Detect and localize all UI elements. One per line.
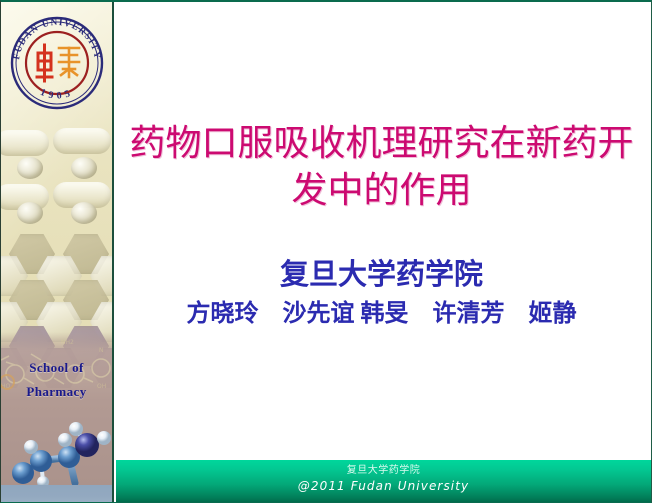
- sidebar-bottom-band: [1, 485, 112, 503]
- sidebar-caption-line2: Pharmacy: [1, 380, 112, 404]
- svg-text:NH2: NH2: [61, 339, 74, 346]
- decor-node: [71, 157, 97, 179]
- footer-organization: 复旦大学药学院: [116, 464, 651, 478]
- slide-title: 药物口服吸收机理研究在新药开 发中的作用: [116, 120, 647, 214]
- molecule-model-icon: [3, 411, 112, 487]
- sidebar-caption-line1: School of: [1, 356, 112, 380]
- decor-cylinder: [53, 128, 111, 154]
- decor-hex-row: [1, 280, 112, 324]
- svg-text:FUDAN UNIVERSITY: FUDAN UNIVERSITY: [11, 17, 103, 60]
- slide-organization: 复旦大学药学院: [116, 257, 647, 293]
- slide-sidebar: HO OH NH2 N School of Pharmacy: [1, 2, 114, 503]
- decor-hex-row: [1, 234, 112, 278]
- decor-node: [17, 202, 43, 224]
- svg-text:1905: 1905: [39, 87, 76, 102]
- decor-cylinder: [1, 130, 49, 156]
- decor-node: [17, 157, 43, 179]
- slide-main-content: 药物口服吸收机理研究在新药开 发中的作用 复旦大学药学院 方晓玲 沙先谊 韩旻 …: [116, 2, 651, 502]
- svg-text:N: N: [99, 347, 104, 354]
- presentation-slide: HO OH NH2 N School of Pharmacy: [0, 0, 652, 503]
- sidebar-caption: School of Pharmacy: [1, 356, 112, 404]
- fudan-university-seal-logo: FUDAN UNIVERSITY 1905: [9, 15, 105, 111]
- footer-copyright: @2011 Fudan University: [116, 478, 651, 495]
- slide-authors: 方晓玲 沙先谊 韩旻 许清芳 姬静: [116, 299, 647, 329]
- slide-footer: 复旦大学药学院 @2011 Fudan University: [116, 460, 651, 502]
- decor-node: [71, 202, 97, 224]
